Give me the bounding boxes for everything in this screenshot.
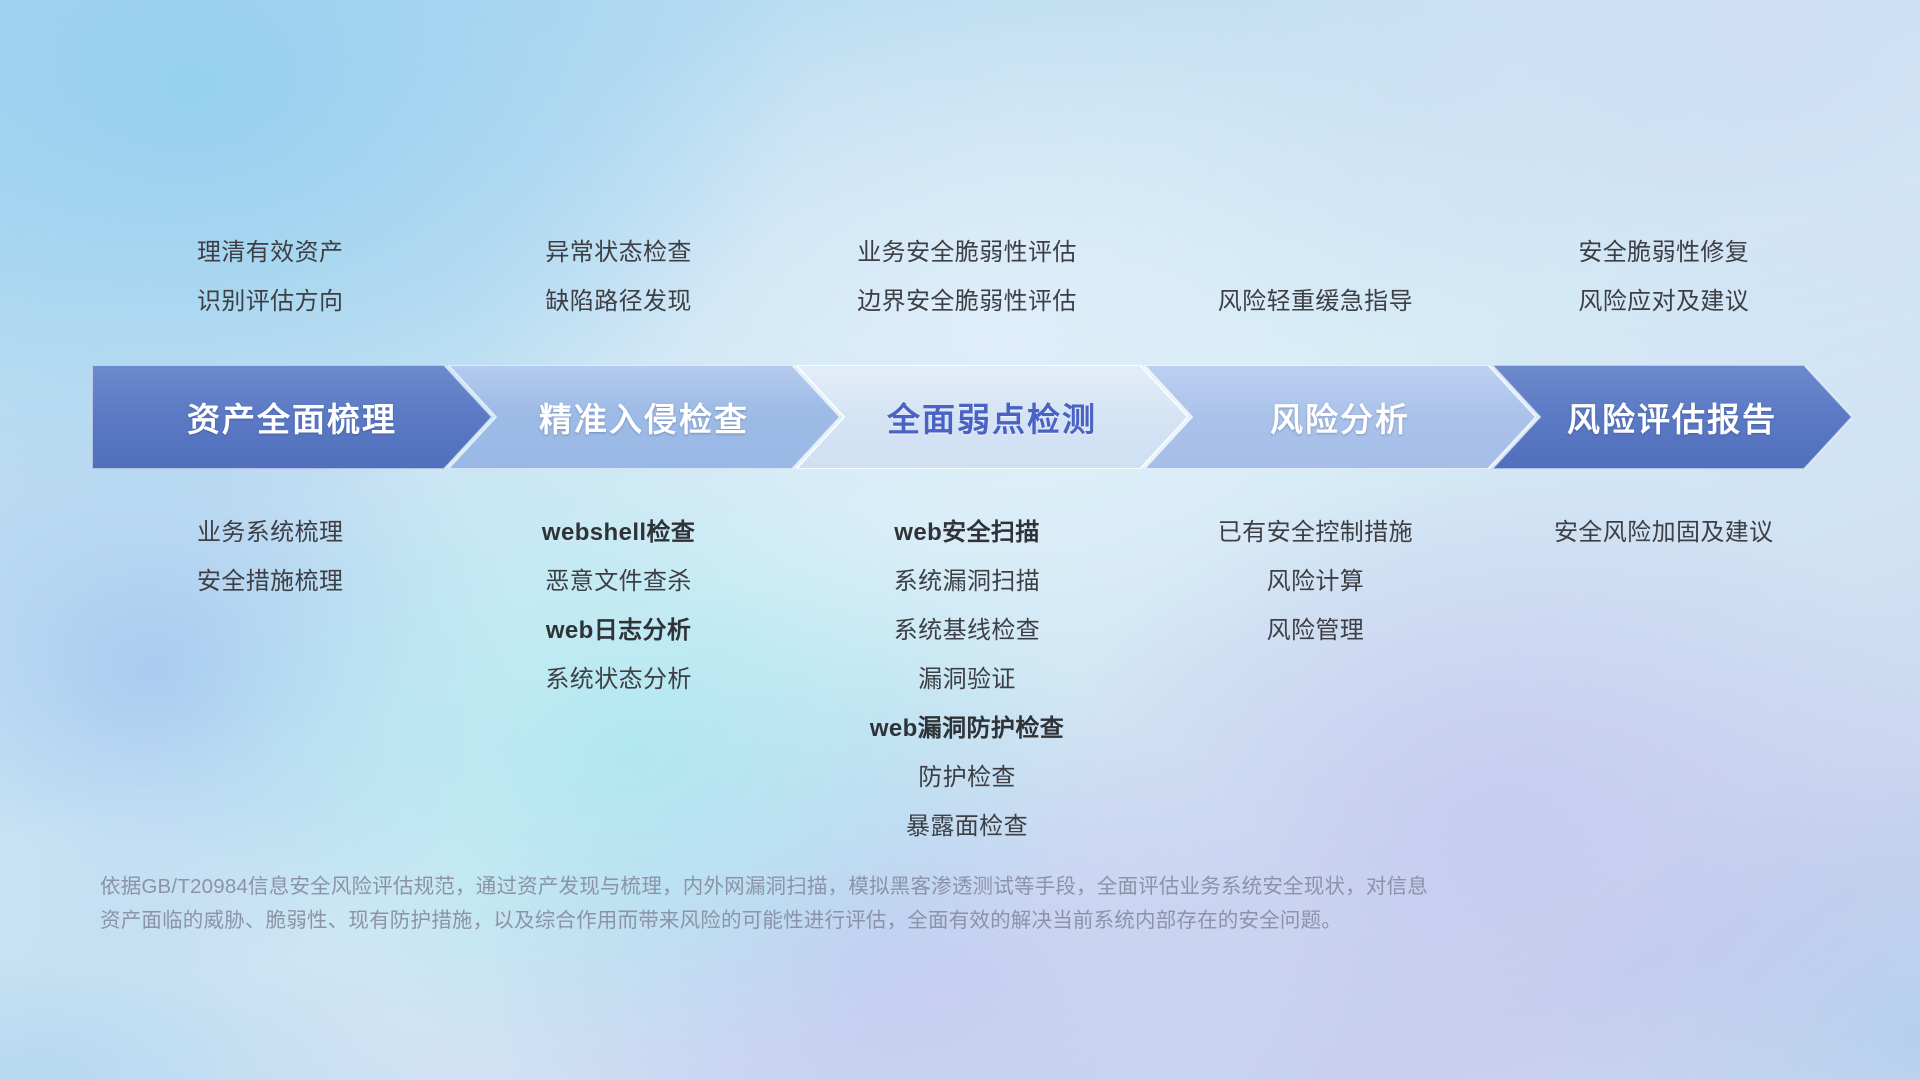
top-notes-weakness-detection: 业务安全脆弱性评估 边界安全脆弱性评估: [793, 228, 1141, 326]
process-arrow-banner: 资产全面梳理 精准入侵检查: [92, 365, 1852, 469]
bottom-notes-asset-inventory: 业务系统梳理 安全措施梳理: [96, 508, 444, 606]
footer-description: 依据GB/T20984信息安全风险评估规范，通过资产发现与梳理，内外网漏洞扫描，…: [100, 870, 1740, 938]
bottom-notes-intrusion-check: webshell检查 恶意文件查杀 web日志分析 系统状态分析: [444, 508, 792, 704]
top-note: 业务安全脆弱性评估: [857, 228, 1077, 277]
bottom-note: web安全扫描: [894, 508, 1039, 557]
stage-arrow-label: 风险分析: [1270, 393, 1410, 441]
top-notes-intrusion-check: 异常状态检查 缺陷路径发现: [444, 228, 792, 326]
bottom-notes-weakness-detection: web安全扫描 系统漏洞扫描 系统基线检查 漏洞验证 web漏洞防护检查 防护检…: [793, 508, 1141, 851]
bottom-note: 风险计算: [1267, 557, 1365, 606]
stage-arrow-label: 风险评估报告: [1567, 393, 1777, 441]
bottom-note: 系统基线检查: [894, 606, 1040, 655]
top-notes-asset-inventory: 理清有效资产 识别评估方向: [96, 228, 444, 326]
bottom-note: web漏洞防护检查: [870, 704, 1064, 753]
top-note: 边界安全脆弱性评估: [857, 277, 1077, 326]
bottom-note: 暴露面检查: [906, 802, 1028, 851]
top-note: 缺陷路径发现: [545, 277, 691, 326]
bottom-note: 已有安全控制措施: [1218, 508, 1413, 557]
risk-assessment-process-diagram: 理清有效资产 识别评估方向 异常状态检查 缺陷路径发现 业务安全脆弱性评估 边界…: [0, 0, 1920, 1080]
top-note: 理清有效资产: [197, 228, 343, 277]
stage-arrow-label: 全面弱点检测: [887, 393, 1097, 441]
top-notes-risk-report: 安全脆弱性修复 风险应对及建议: [1490, 228, 1838, 326]
stage-arrow-asset-inventory[interactable]: 资产全面梳理: [92, 365, 492, 469]
bottom-notes-risk-report: 安全风险加固及建议: [1490, 508, 1838, 557]
footer-line: 依据GB/T20984信息安全风险评估规范，通过资产发现与梳理，内外网漏洞扫描，…: [100, 870, 1740, 904]
top-note: 风险应对及建议: [1578, 277, 1749, 326]
bottom-note: 风险管理: [1267, 606, 1365, 655]
footer-line: 资产面临的威胁、脆弱性、现有防护措施，以及综合作用而带来风险的可能性进行评估，全…: [100, 904, 1740, 938]
bottom-notes-risk-analysis: 已有安全控制措施 风险计算 风险管理: [1141, 508, 1489, 655]
stage-arrow-risk-report[interactable]: 风险评估报告: [1492, 365, 1852, 469]
stage-arrow-weakness-detection[interactable]: 全面弱点检测: [796, 365, 1188, 469]
bottom-note: 防护检查: [918, 753, 1016, 802]
bottom-note: 恶意文件查杀: [545, 557, 691, 606]
bottom-note: 安全措施梳理: [197, 557, 343, 606]
bottom-note: 业务系统梳理: [197, 508, 343, 557]
stage-arrow-intrusion-check[interactable]: 精准入侵检查: [448, 365, 840, 469]
top-note: 异常状态检查: [545, 228, 691, 277]
top-note: 识别评估方向: [197, 277, 343, 326]
top-note: 风险轻重缓急指导: [1218, 277, 1413, 326]
bottom-note: 漏洞验证: [918, 655, 1016, 704]
bottom-note: 系统状态分析: [545, 655, 691, 704]
stage-arrow-label: 精准入侵检查: [539, 393, 749, 441]
bottom-note: web日志分析: [546, 606, 691, 655]
top-notes-risk-analysis: 风险轻重缓急指导: [1141, 228, 1489, 326]
bottom-note: 安全风险加固及建议: [1554, 508, 1774, 557]
bottom-note: 系统漏洞扫描: [894, 557, 1040, 606]
stage-arrow-risk-analysis[interactable]: 风险分析: [1144, 365, 1536, 469]
top-note: 安全脆弱性修复: [1578, 228, 1749, 277]
bottom-notes-row: 业务系统梳理 安全措施梳理 webshell检查 恶意文件查杀 web日志分析 …: [96, 508, 1838, 851]
top-notes-row: 理清有效资产 识别评估方向 异常状态检查 缺陷路径发现 业务安全脆弱性评估 边界…: [96, 228, 1838, 326]
bottom-note: webshell检查: [542, 508, 695, 557]
stage-arrow-label: 资产全面梳理: [187, 393, 397, 441]
